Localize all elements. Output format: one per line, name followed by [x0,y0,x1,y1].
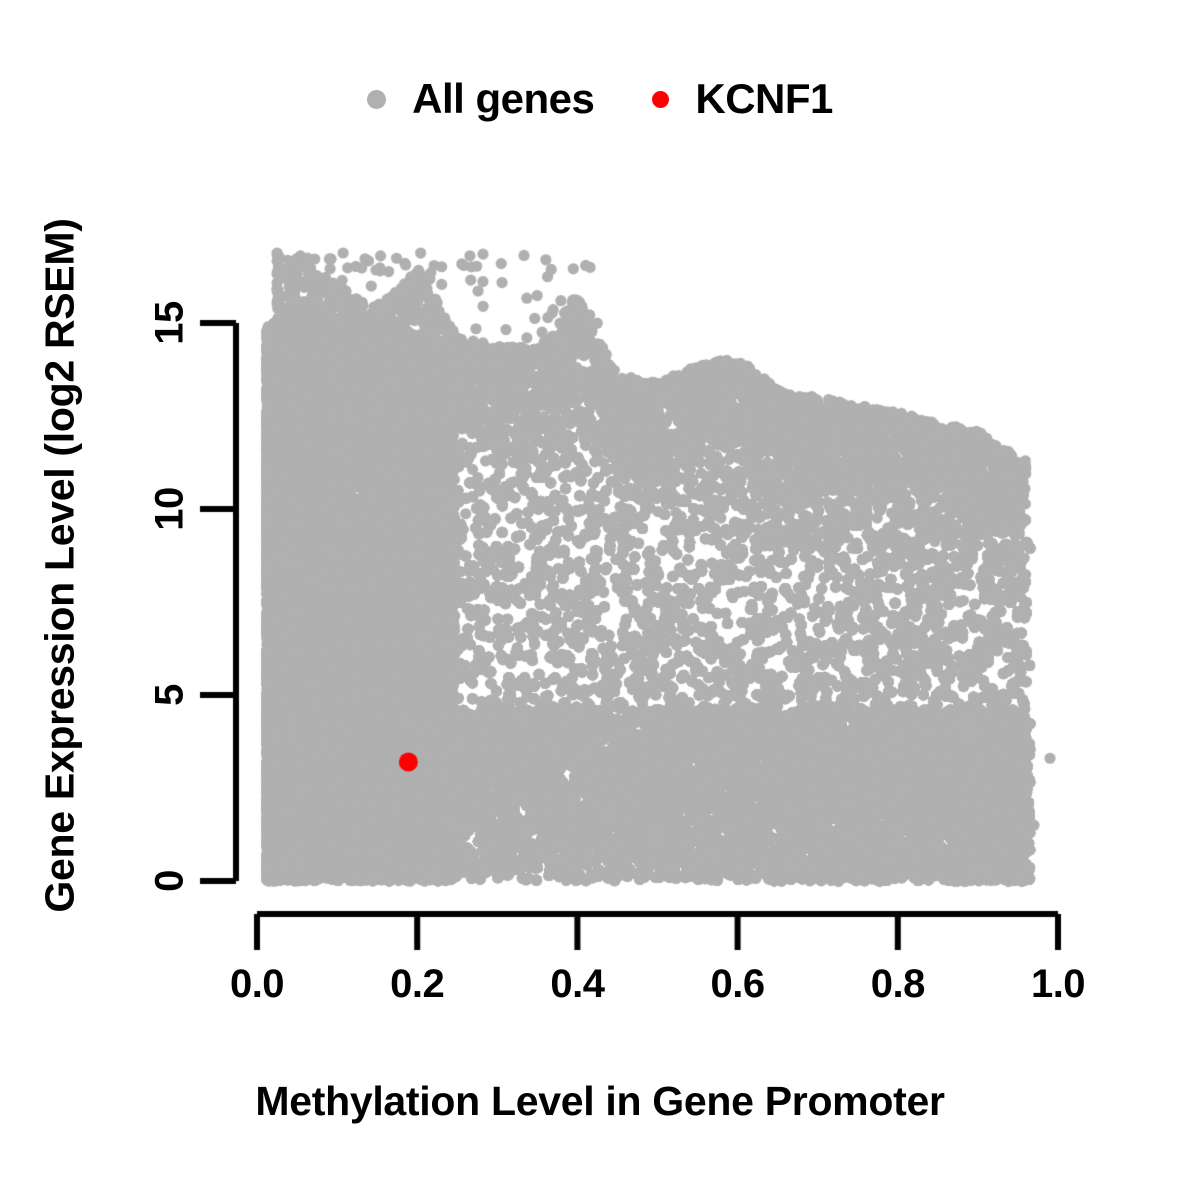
scatter-plot-figure: All genes KCNF1 0.00.20.40.60.81.0051015… [0,0,1200,1200]
x-tick-label: 0.6 [711,962,765,1007]
scatter-plot-canvas [0,0,1200,1200]
y-tick-label: 0 [148,851,193,911]
x-tick-label: 0.8 [871,962,925,1007]
y-tick-label: 10 [148,479,193,539]
x-tick-label: 0.4 [550,962,604,1007]
y-tick-label: 5 [148,665,193,725]
x-axis-title: Methylation Level in Gene Promoter [0,1078,1200,1125]
x-tick-label: 0.0 [230,962,284,1007]
x-tick-label: 0.2 [390,962,444,1007]
y-tick-label: 15 [148,293,193,353]
x-tick-label: 1.0 [1031,962,1085,1007]
y-axis-title: Gene Expression Level (log2 RSEM) [37,0,84,1166]
